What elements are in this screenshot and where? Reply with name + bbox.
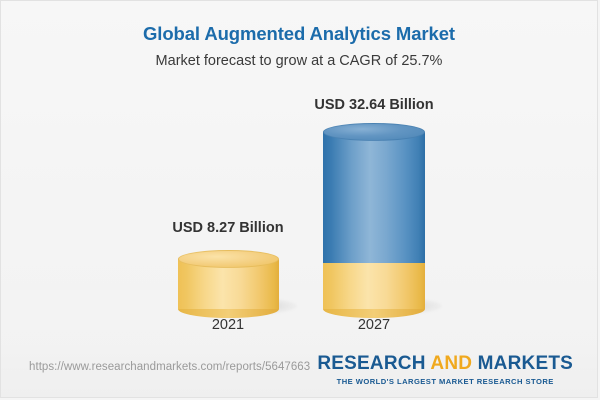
- cylinder-top-cap-2021: [178, 250, 279, 268]
- value-label-2027: USD 32.64 Billion: [264, 97, 484, 113]
- cylinder-body-2027: [323, 132, 425, 263]
- logo-word-and: AND: [430, 353, 472, 374]
- research-and-markets-logo[interactable]: RESEARCH AND MARKETS THE WORLD'S LARGEST…: [317, 353, 573, 386]
- cylinder-body-2027-base: [323, 263, 425, 309]
- bar-cylinder-2027-base[interactable]: [323, 263, 425, 309]
- plot-area: USD 8.27 Billion 2021 USD 32.64 Billion: [1, 1, 598, 346]
- category-label-2027: 2027: [264, 317, 484, 333]
- footer: https://www.researchandmarkets.com/repor…: [1, 345, 597, 397]
- bar-cylinder-2027[interactable]: [323, 132, 425, 263]
- chart-card: Global Augmented Analytics Market Market…: [0, 0, 598, 398]
- cylinder-top-cap-2027: [323, 123, 425, 141]
- logo-word-markets: MARKETS: [478, 353, 573, 374]
- report-url[interactable]: https://www.researchandmarkets.com/repor…: [29, 361, 310, 373]
- bar-cylinder-2021[interactable]: [178, 259, 279, 309]
- logo-word-research: RESEARCH: [317, 353, 425, 374]
- value-label-2021: USD 8.27 Billion: [118, 220, 338, 236]
- logo-tagline: THE WORLD'S LARGEST MARKET RESEARCH STOR…: [317, 377, 573, 386]
- logo-wordmark: RESEARCH AND MARKETS: [317, 353, 573, 375]
